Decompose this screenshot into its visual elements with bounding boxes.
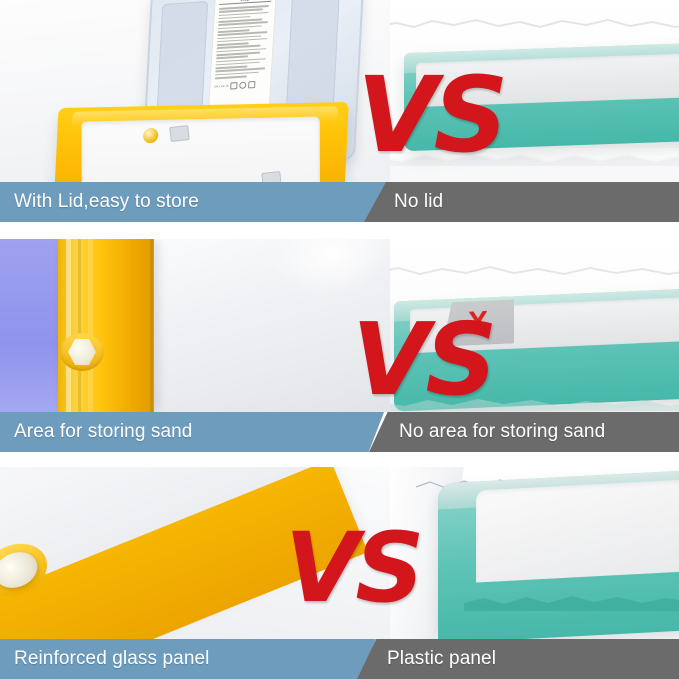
panel-material-negative-image [390,467,679,639]
label-text-block [215,5,271,79]
panel-lid-positive-image: Usage [0,0,400,182]
lid-hinge-bottom [261,171,281,182]
caption-negative-label: No area for storing sand [369,421,605,443]
vs-badge: VS [357,73,504,158]
caption-bar-negative: No lid [364,182,679,222]
panel-material-media: VS [0,467,679,639]
label-certification-marks: EN1 CE IE [214,80,266,90]
comparison-panel-lid: Usage [0,0,679,222]
vs-badge: VS [285,529,420,608]
caption-negative-label: Plastic panel [357,648,496,670]
comparison-panel-material: VS Reinforced glass panel Plastic panel [0,467,679,679]
caption-positive-label: Area for storing sand [0,421,192,443]
yellow-storage-box [53,102,349,182]
torn-paper-background [390,467,679,639]
torn-paper-edge-top-icon [390,14,679,32]
lid-pocket-right [286,0,340,116]
panel-sand-positive-image [0,239,400,412]
panel-material-captions: Reinforced glass panel Plastic panel [0,639,679,679]
caption-bar-negative: Plastic panel [357,639,679,679]
warning-mark-icon [248,80,255,87]
yellow-frame-pillar [58,239,154,412]
caption-positive-label: With Lid,easy to store [0,191,199,213]
vs-badge: VS [352,319,493,401]
lavender-side-strip [0,239,60,412]
recycle-mark-icon [239,81,246,88]
caption-bar-positive: Reinforced glass panel [0,639,376,679]
label-code: EN1 CE IE [214,84,228,88]
comparison-panel-sand-area: X VS Area for storing sand No area for s… [0,239,679,452]
caption-bar-negative: No area for storing sand [369,412,679,452]
torn-paper-edge-top-icon [390,261,679,279]
panel-sand-captions: Area for storing sand No area for storin… [0,412,679,452]
caption-bar-positive: With Lid,easy to store [0,182,392,222]
plastic-panel-surface [476,479,679,582]
yellow-box-interior [81,117,320,182]
panel-lid-media: Usage [0,0,679,182]
caption-positive-label: Reinforced glass panel [0,648,209,670]
caption-bar-positive: Area for storing sand [0,412,384,452]
comparison-infographic: Usage [0,0,679,679]
torn-paper-edge-bottom-icon [464,585,679,611]
lid-hinge-top [169,125,189,142]
panel-lid-captions: With Lid,easy to store No lid [0,182,679,222]
glass-highlight [264,239,400,310]
ce-mark-icon [230,82,237,89]
panel-sand-media: X VS [0,239,679,412]
